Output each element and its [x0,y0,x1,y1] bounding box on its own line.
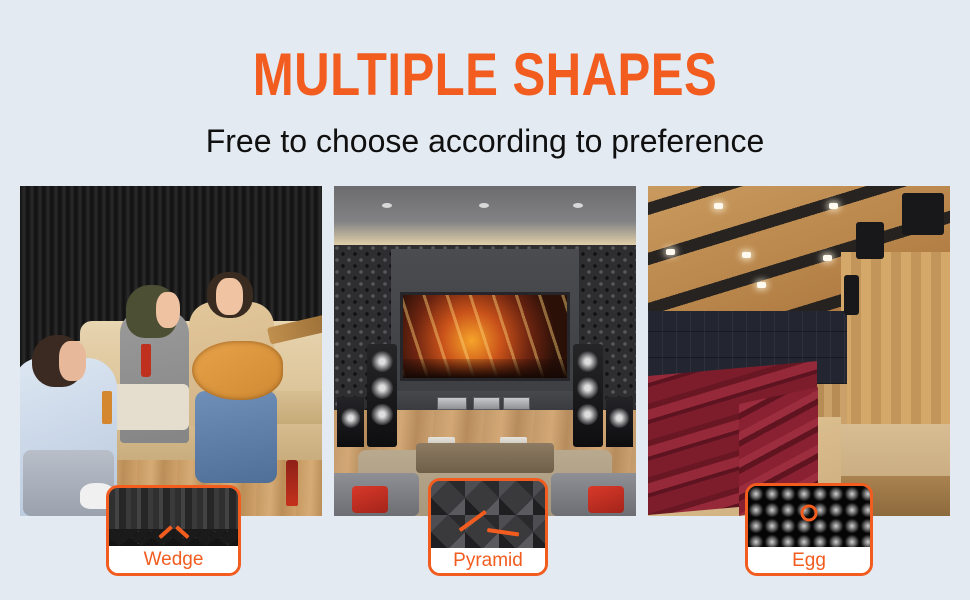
acoustic-guitar [192,341,283,400]
wedge-foam-swatch [109,488,238,546]
photo-auditorium [648,186,950,516]
face-hijab-woman [156,292,180,328]
photo-home-theater [334,186,636,516]
av-receiver [503,397,530,410]
projection-screen [400,292,569,381]
pyramid-foam-swatch [431,481,545,548]
callout-label-wedge: Wedge [109,546,238,573]
pants-hijab-woman [111,384,190,430]
ceiling-light-icon [757,282,766,288]
av-receiver [473,397,500,410]
downlight-icon [573,203,583,208]
angle-line-icon [461,506,513,532]
callout-label-pyramid: Pyramid [431,548,545,573]
drink-bottle [102,391,113,424]
drink-bottle [286,460,298,506]
ceiling-light-icon [742,252,751,258]
red-pillow [352,486,388,512]
downlight-icon [479,203,489,208]
ceiling-light-icon [823,255,832,261]
egg-crate-foam-swatch [748,486,870,547]
drink-bottle [141,344,152,377]
speaker-driver [371,404,393,426]
circle-icon [801,505,818,522]
ceiling-light-icon [829,203,838,209]
speaker-driver [577,351,599,373]
subwoofer-right [606,397,633,447]
photo-lounge [20,186,322,516]
speaker-driver [371,351,393,373]
face-foreground-man [59,341,86,381]
speaker-driver [371,377,393,399]
ceiling [334,186,636,245]
ceiling-light-icon [666,249,675,255]
concert-crowd [403,359,566,377]
product-banner: MULTIPLE SHAPES Free to choose according… [0,0,970,600]
subwoofer-left [337,397,364,447]
photo-row [20,186,950,516]
callout-wedge[interactable]: Wedge [106,485,241,576]
coffee-table [416,443,555,473]
hanging-speaker [856,222,883,258]
speaker-driver [577,404,599,426]
jeans-guitarist [195,391,277,483]
ceiling-light-icon [714,203,723,209]
callout-pyramid[interactable]: Pyramid [428,478,548,576]
av-receiver [437,397,467,410]
tower-speaker-left [367,344,397,446]
speaker-driver [577,377,599,399]
downlight-icon [382,203,392,208]
speaker-driver [341,408,361,428]
tower-speaker-right [573,344,603,446]
page-title: MULTIPLE SHAPES [87,44,882,106]
callout-egg[interactable]: Egg [745,483,873,576]
callout-label-egg: Egg [748,547,870,573]
line-array-speaker [844,275,859,315]
chevron-icon [161,524,187,539]
red-pillow [588,486,624,512]
hanging-speaker [902,193,944,236]
face-guitarist [216,278,243,314]
page-subtitle: Free to choose according to preference [0,120,970,162]
speaker-driver [610,408,630,428]
